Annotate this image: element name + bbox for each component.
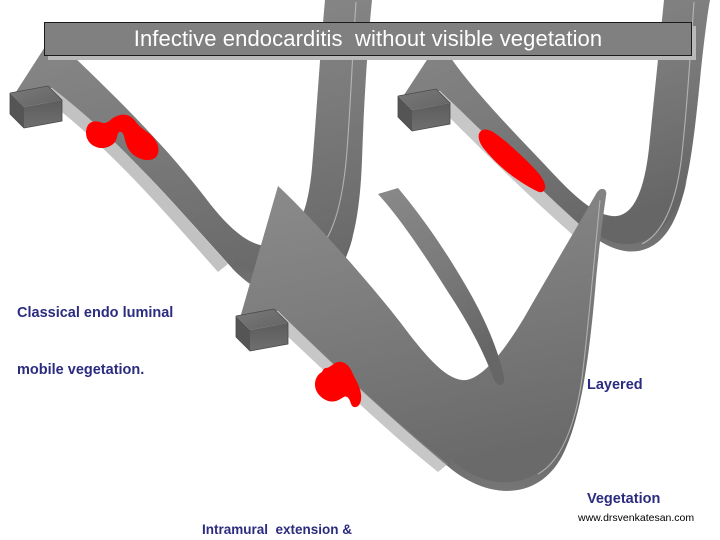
caption-layered-line-1: Layered [587, 366, 660, 404]
shape-intramural-abscess [236, 186, 606, 491]
tube-top-face [44, 88, 228, 272]
caption-intramural-line-1: Intramural extension & [202, 514, 352, 540]
tube-end-cap [398, 89, 450, 131]
tube-end-cap [236, 309, 288, 351]
caption-layered-vegetation: Layered Vegetation [587, 290, 660, 540]
caption-classical-vegetation: Classical endo luminal mobile vegetation… [17, 266, 173, 418]
title-bar: Infective endocarditis without visible v… [44, 22, 692, 56]
caption-intramural-abscess: Intramural extension & Abscess(No projec… [202, 452, 352, 540]
tube-end-cap [10, 86, 62, 128]
slide-canvas: Infective endocarditis without visible v… [0, 0, 720, 540]
page-title: Infective endocarditis without visible v… [134, 28, 602, 50]
caption-classical-line-2: mobile vegetation. [17, 361, 173, 380]
caption-classical-line-1: Classical endo luminal [17, 304, 173, 323]
watermark: www.drsvenkatesan.com [578, 512, 694, 524]
